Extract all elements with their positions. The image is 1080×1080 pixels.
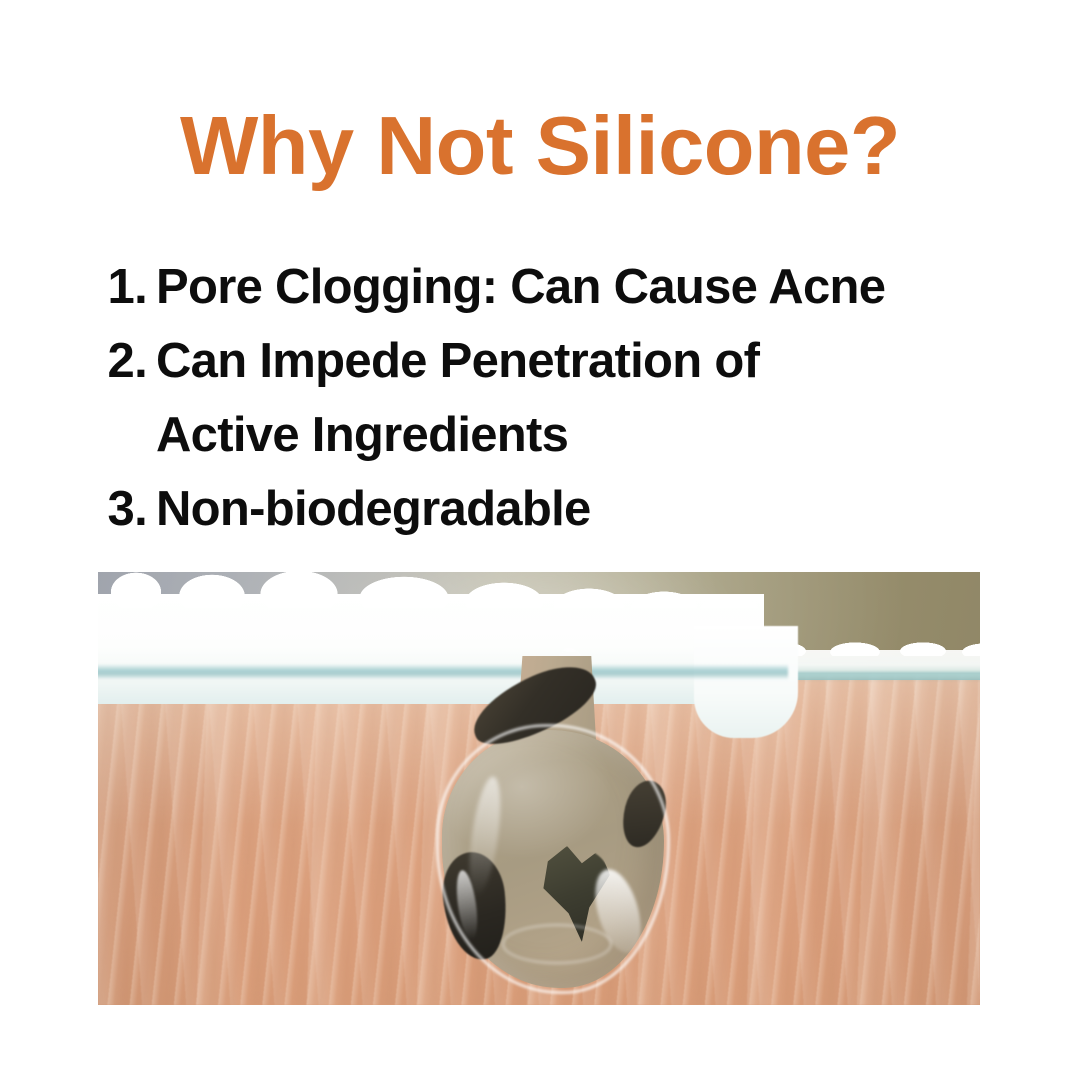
list-item: 3. Non-biodegradable — [100, 472, 1000, 546]
list-item-label: Pore Clogging: Can Cause Acne — [156, 250, 1000, 324]
list-item-label: Can Impede Penetration of Active Ingredi… — [156, 324, 1000, 472]
slide-root: Why Not Silicone? 1. Pore Clogging: Can … — [0, 0, 1080, 1080]
clogged-pore — [428, 656, 678, 996]
page-title: Why Not Silicone? — [0, 104, 1080, 189]
skin-cross-section-image — [98, 572, 980, 1005]
list-item: 2. Can Impede Penetration of Active Ingr… — [100, 324, 1000, 472]
list-item-label: Non-biodegradable — [156, 472, 1000, 546]
list-item-number: 3. — [100, 472, 156, 546]
cream-drip — [694, 626, 798, 738]
list-item: 1. Pore Clogging: Can Cause Acne — [100, 250, 1000, 324]
list-item-number: 1. — [100, 250, 156, 324]
list-item-number: 2. — [100, 324, 156, 398]
reasons-list: 1. Pore Clogging: Can Cause Acne 2. Can … — [100, 250, 1000, 546]
